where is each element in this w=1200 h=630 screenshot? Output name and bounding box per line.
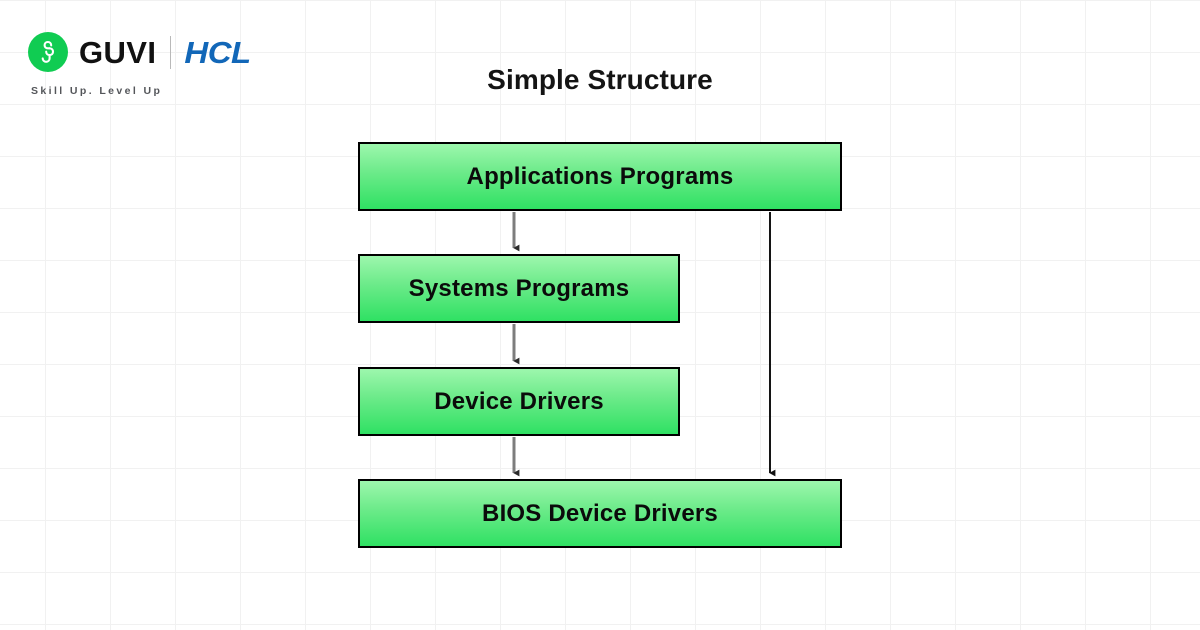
node-device-drivers[interactable]: Device Drivers: [358, 367, 680, 436]
node-label: Applications Programs: [467, 163, 734, 191]
node-label: Systems Programs: [409, 275, 630, 303]
node-label: Device Drivers: [434, 388, 604, 416]
node-systems-programs[interactable]: Systems Programs: [358, 254, 680, 323]
node-bios-device-drivers[interactable]: BIOS Device Drivers: [358, 479, 842, 548]
flowchart: Applications Programs Systems Programs D…: [0, 0, 1200, 630]
node-applications-programs[interactable]: Applications Programs: [358, 142, 842, 211]
slide-canvas: GUVI HCL Skill Up. Level Up Simple Struc…: [0, 0, 1200, 630]
node-label: BIOS Device Drivers: [482, 500, 718, 528]
